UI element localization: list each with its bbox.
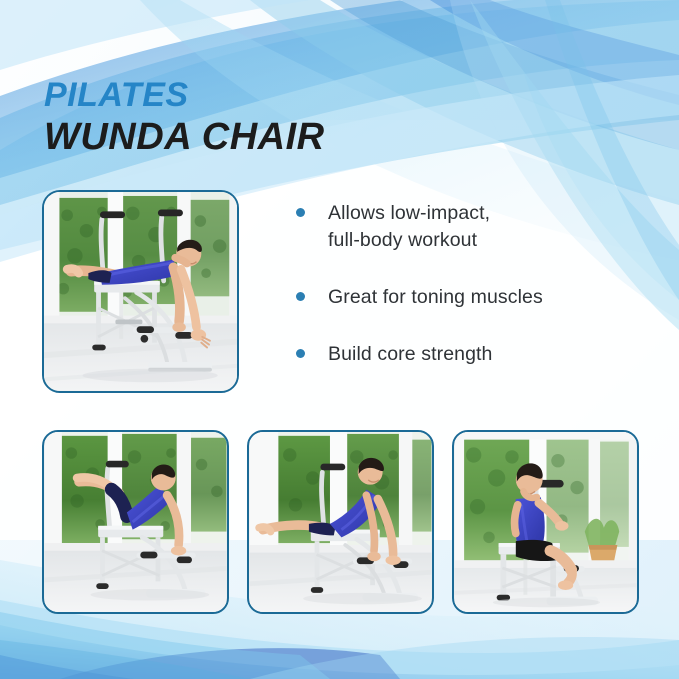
page-title: PILATES WUNDA CHAIR bbox=[44, 78, 325, 159]
bullet-dot-icon bbox=[296, 208, 305, 217]
thumb-1-scene bbox=[44, 432, 227, 612]
product-infographic: PILATES WUNDA CHAIR bbox=[0, 0, 679, 679]
list-item: Great for toning muscles bbox=[296, 284, 656, 311]
feature-text: Build core strength bbox=[328, 341, 493, 368]
list-item: Build core strength bbox=[296, 341, 656, 368]
list-item: Allows low-impact, full-body workout bbox=[296, 200, 656, 254]
hero-photo-scene bbox=[44, 192, 237, 391]
bullet-dot-icon bbox=[296, 349, 305, 358]
thumb-2-scene bbox=[249, 432, 432, 612]
hero-product-image[interactable] bbox=[42, 190, 239, 393]
title-brand: PILATES bbox=[44, 78, 325, 113]
feature-list: Allows low-impact, full-body workout Gre… bbox=[296, 200, 656, 368]
gallery-thumb-2[interactable] bbox=[247, 430, 434, 614]
feature-text: Allows low-impact, full-body workout bbox=[328, 200, 490, 254]
title-product: WUNDA CHAIR bbox=[44, 117, 325, 159]
gallery-thumb-3[interactable] bbox=[452, 430, 639, 614]
gallery-thumb-1[interactable] bbox=[42, 430, 229, 614]
bullet-dot-icon bbox=[296, 292, 305, 301]
feature-text: Great for toning muscles bbox=[328, 284, 543, 311]
thumb-3-scene bbox=[454, 432, 637, 612]
